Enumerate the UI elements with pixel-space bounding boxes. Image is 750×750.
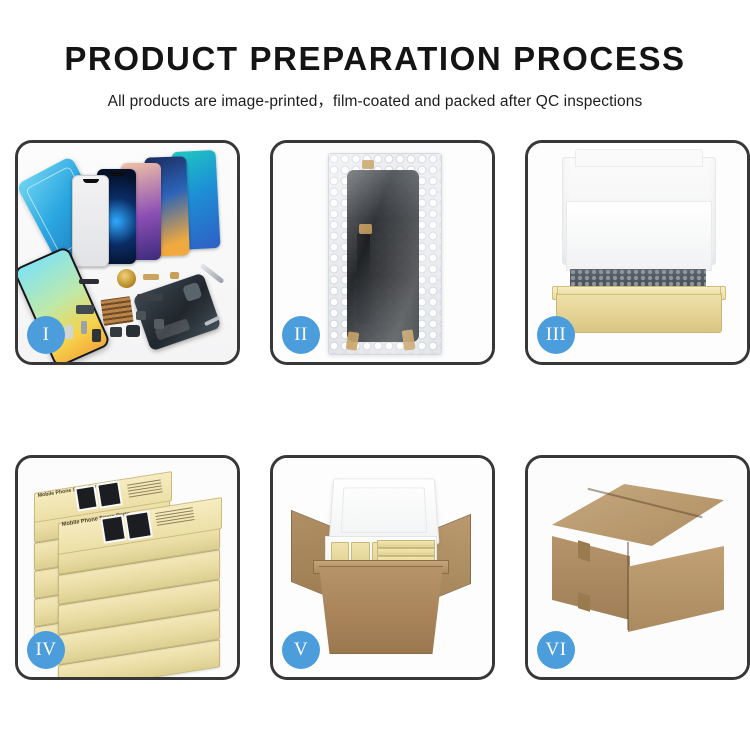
- yellow-inner-box: [556, 293, 722, 333]
- step-panel-4[interactable]: Mobile Phone Spare Parts Mobile Phone Sp…: [15, 455, 240, 680]
- step-badge-1: I: [27, 316, 65, 354]
- wireless-charging-coil: [117, 269, 136, 288]
- spare-part: [81, 321, 87, 334]
- header: PRODUCT PREPARATION PROCESS All products…: [0, 0, 750, 111]
- carton-tape: [578, 592, 590, 612]
- box-window: [74, 485, 98, 512]
- step-panel-5[interactable]: V: [270, 455, 495, 680]
- carton-left-face: [552, 536, 630, 620]
- carton-right-face: [628, 546, 724, 632]
- step-badge-3: III: [537, 316, 575, 354]
- spare-part: [65, 325, 73, 339]
- box-window: [100, 514, 127, 543]
- box-window: [124, 510, 153, 541]
- product-preparation-process-page: PRODUCT PREPARATION PROCESS All products…: [0, 0, 750, 750]
- carton-body: [315, 566, 447, 654]
- spare-part: [154, 319, 164, 329]
- process-grid: I II: [15, 140, 735, 680]
- carton-vertical-edge: [627, 542, 629, 630]
- box-window: [96, 480, 123, 508]
- yellow-box: [377, 540, 435, 548]
- spare-part: [110, 327, 122, 337]
- tape-strip: [359, 224, 372, 234]
- step-badge-4: IV: [27, 631, 65, 669]
- spare-part: [143, 274, 159, 280]
- step-panel-3[interactable]: III: [525, 140, 750, 365]
- spare-part: [92, 329, 101, 342]
- spare-part: [137, 294, 163, 301]
- yellow-box: [377, 548, 435, 556]
- step-badge-6: VI: [537, 631, 575, 669]
- foam-sheet: [566, 201, 712, 271]
- phone-screen-1: [72, 175, 109, 267]
- spare-part: [136, 311, 146, 320]
- spare-part: [79, 279, 99, 284]
- notch-icon: [83, 179, 99, 183]
- box-stack: Mobile Phone Spare Parts Mobile Phone Sp…: [28, 476, 228, 662]
- step-panel-2[interactable]: II: [270, 140, 495, 365]
- carton-tape: [578, 540, 590, 562]
- spare-part: [76, 305, 94, 314]
- bubble-wrap-bag: [328, 153, 442, 355]
- step-panel-1[interactable]: I: [15, 140, 240, 365]
- flex-cable: [357, 232, 370, 324]
- foam-box-lid: [328, 478, 439, 544]
- spare-part: [170, 272, 179, 279]
- step-badge-2: II: [282, 316, 320, 354]
- step-panel-6[interactable]: VI: [525, 455, 750, 680]
- notch-icon: [109, 172, 125, 176]
- step-badge-5: V: [282, 631, 320, 669]
- screw-grid: [100, 296, 133, 326]
- tape-strip: [346, 331, 360, 350]
- phone-screen-fan: [66, 151, 236, 266]
- spare-part: [126, 325, 140, 337]
- page-subtitle: All products are image-printed，film-coat…: [0, 77, 750, 111]
- tape-strip: [362, 160, 374, 169]
- page-title: PRODUCT PREPARATION PROCESS: [0, 0, 750, 77]
